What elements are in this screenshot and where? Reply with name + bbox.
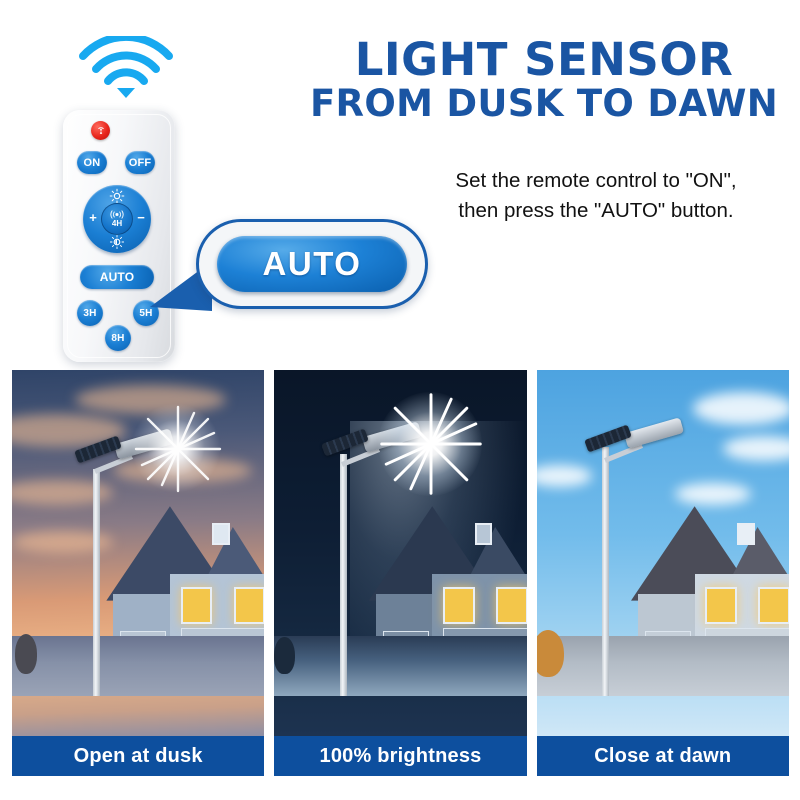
ground — [274, 636, 526, 696]
panel-caption: 100% brightness — [274, 736, 526, 776]
scene-panels: Open at dusk — [12, 370, 789, 776]
instruction-line-2: then press the "AUTO" button. — [400, 196, 792, 226]
panel-caption: Open at dusk — [12, 736, 264, 776]
panel-open-at-dusk: Open at dusk — [12, 370, 264, 776]
auto-button[interactable]: AUTO — [80, 265, 154, 289]
light-pole — [602, 447, 609, 696]
remote-control: ON OFF + − — [63, 110, 175, 362]
motion-sensor-icon — [107, 210, 127, 219]
instruction-line-1: Set the remote control to "ON", — [400, 166, 792, 196]
off-button[interactable]: OFF — [125, 151, 155, 174]
light-pole — [340, 454, 347, 696]
scene-day — [537, 370, 789, 736]
headline-line-2: FROM DUSK TO DAWN — [296, 83, 792, 125]
scene-dusk — [12, 370, 264, 736]
sun-brightness-icon[interactable] — [109, 188, 125, 204]
sensor-time-button[interactable]: 4H — [101, 203, 133, 235]
ground — [12, 636, 264, 696]
wifi-icon — [77, 36, 175, 98]
on-button[interactable]: ON — [77, 151, 107, 174]
instruction-text: Set the remote control to "ON", then pre… — [400, 166, 792, 226]
page-title: LIGHT SENSOR FROM DUSK TO DAWN — [296, 36, 792, 125]
infographic-page: LIGHT SENSOR FROM DUSK TO DAWN Set the r… — [0, 0, 800, 800]
control-pad[interactable]: + − — [83, 185, 151, 253]
sensor-time-label: 4H — [112, 220, 122, 228]
timer-3h-button[interactable]: 3H — [77, 300, 103, 326]
panel-close-at-dawn: Close at dawn — [537, 370, 789, 776]
auto-button-callout: AUTO — [196, 219, 428, 309]
timer-8h-button[interactable]: 8H — [105, 325, 131, 351]
brightness-down-button[interactable]: − — [135, 212, 147, 224]
panel-caption: Close at dawn — [537, 736, 789, 776]
panel-100-brightness: 100% brightness — [274, 370, 526, 776]
moon-dim-icon[interactable] — [109, 234, 125, 250]
power-alarm-icon[interactable] — [91, 121, 110, 140]
ground — [537, 636, 789, 696]
headline-line-1: LIGHT SENSOR — [296, 36, 792, 83]
brightness-up-button[interactable]: + — [87, 212, 99, 224]
scene-night — [274, 370, 526, 736]
callout-auto-button[interactable]: AUTO — [217, 236, 407, 292]
light-pole — [93, 469, 100, 696]
